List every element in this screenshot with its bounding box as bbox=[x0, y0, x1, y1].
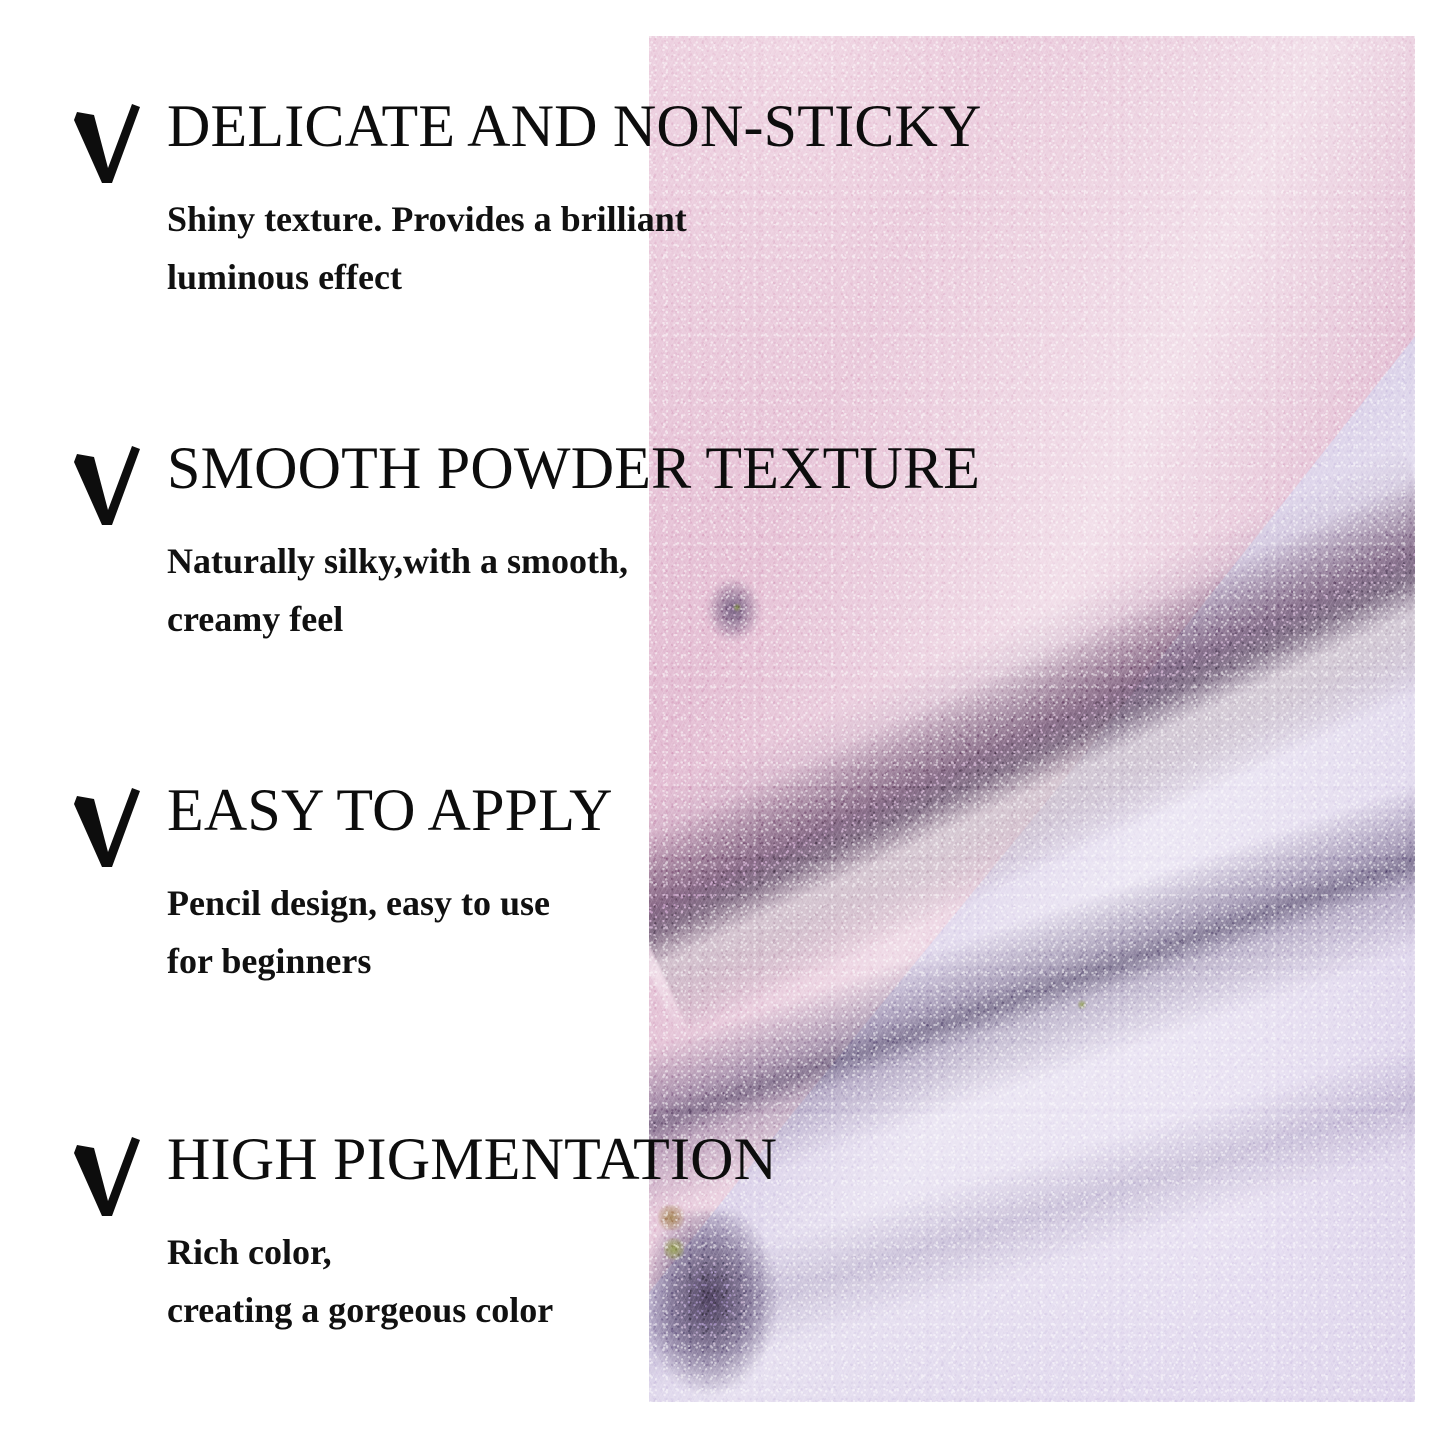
feature-title: HIGH PIGMENTATION bbox=[167, 1129, 777, 1189]
feature-title: SMOOTH POWDER TEXTURE bbox=[167, 438, 980, 498]
feature-title: EASY TO APPLY bbox=[167, 780, 613, 840]
checkmark-icon bbox=[72, 1135, 142, 1219]
feature-description: Pencil design, easy to use for beginners bbox=[167, 874, 550, 991]
checkmark-icon bbox=[72, 444, 142, 528]
checkmark-icon bbox=[72, 786, 142, 870]
feature-description: Naturally silky,with a smooth, creamy fe… bbox=[167, 532, 628, 649]
feature-description: Shiny texture. Provides a brilliant lumi… bbox=[167, 190, 687, 307]
checkmark-icon bbox=[72, 102, 142, 186]
feature-list: DELICATE AND NON-STICKY Shiny texture. P… bbox=[0, 0, 1445, 1445]
feature-description: Rich color, creating a gorgeous color bbox=[167, 1223, 553, 1340]
product-feature-graphic: DELICATE AND NON-STICKY Shiny texture. P… bbox=[0, 0, 1445, 1445]
feature-title: DELICATE AND NON-STICKY bbox=[167, 96, 982, 156]
